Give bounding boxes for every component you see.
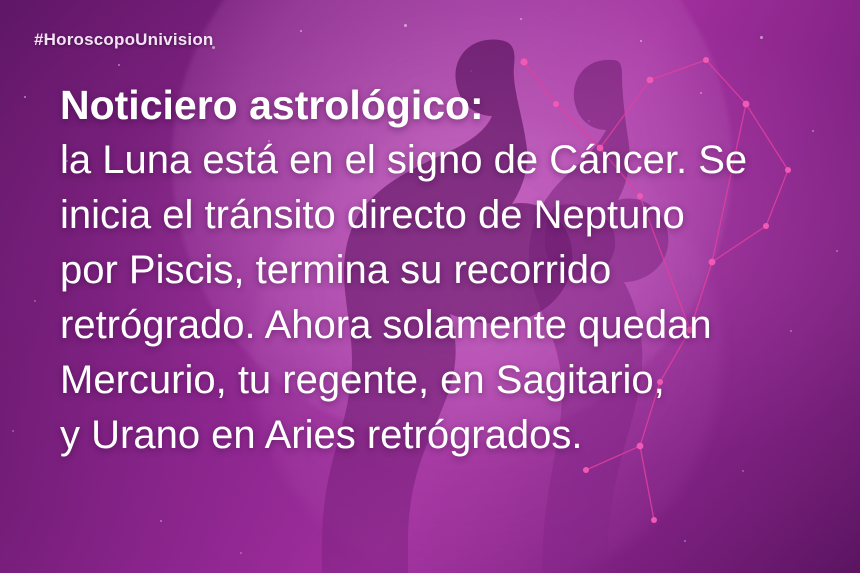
text-line-1: la Luna está en el signo de Cáncer. Se	[60, 133, 830, 188]
hashtag-label: #HoroscopoUnivision	[34, 30, 214, 50]
horoscope-text: Noticiero astrológico: la Luna está en e…	[60, 78, 830, 463]
text-line-6: y Urano en Aries retrógrados.	[60, 408, 830, 463]
headline-line: Noticiero astrológico:	[60, 78, 830, 133]
horoscope-card: #HoroscopoUnivision Noticiero astrológic…	[0, 0, 860, 573]
text-line-2: inicia el tránsito directo de Neptuno	[60, 188, 830, 243]
text-line-4: retrógrado. Ahora solamente quedan	[60, 298, 830, 353]
text-line-3: por Piscis, termina su recorrido	[60, 243, 830, 298]
text-line-5: Mercurio, tu regente, en Sagitario,	[60, 353, 830, 408]
